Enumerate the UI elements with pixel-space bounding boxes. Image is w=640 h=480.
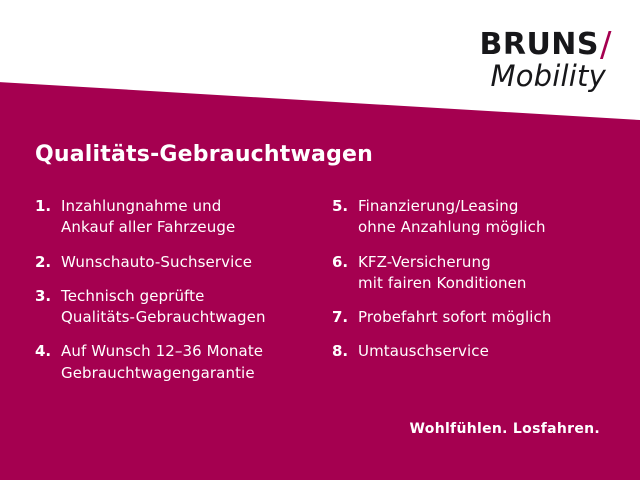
list-item-text: Umtauschservice bbox=[358, 341, 640, 362]
feature-column-right: 5. Finanzierung/Leasing ohne Anzahlung m… bbox=[330, 196, 640, 376]
list-item-line-1: Probefahrt sofort möglich bbox=[358, 308, 552, 326]
list-item: 1. Inzahlungnahme und Ankauf aller Fahrz… bbox=[35, 196, 330, 239]
brand-tagline: Wohlfühlen. Losfahren. bbox=[410, 421, 600, 437]
list-item-text: KFZ-Versicherung mit fairen Konditionen bbox=[358, 252, 640, 295]
list-item-text: Auf Wunsch 12–36 Monate Gebrauchtwagenga… bbox=[61, 341, 330, 384]
list-item: 4. Auf Wunsch 12–36 Monate Gebrauchtwage… bbox=[35, 341, 330, 384]
list-item: 7. Probefahrt sofort möglich bbox=[332, 307, 640, 328]
list-item-line-1: Auf Wunsch 12–36 Monate bbox=[61, 342, 263, 360]
list-item-text: Finanzierung/Leasing ohne Anzahlung mögl… bbox=[358, 196, 640, 239]
logo-wordmark-bruns: BRUNS/ bbox=[479, 26, 612, 60]
list-item-line-1: Inzahlungnahme und bbox=[61, 197, 221, 215]
list-item-line-1: Wunschauto-Suchservice bbox=[61, 253, 252, 271]
list-item: 5. Finanzierung/Leasing ohne Anzahlung m… bbox=[332, 196, 640, 239]
list-item-number: 4. bbox=[35, 341, 61, 362]
list-item-text: Inzahlungnahme und Ankauf aller Fahrzeug… bbox=[61, 196, 330, 239]
list-item-number: 2. bbox=[35, 252, 61, 273]
list-item-text: Wunschauto-Suchservice bbox=[61, 252, 330, 273]
list-item: 8. Umtauschservice bbox=[332, 341, 640, 362]
feature-columns: 1. Inzahlungnahme und Ankauf aller Fahrz… bbox=[0, 196, 640, 397]
list-item: 3. Technisch geprüfte Qualitäts-Gebrauch… bbox=[35, 286, 330, 329]
logo-text-bruns: BRUNS bbox=[479, 27, 599, 62]
list-item-number: 6. bbox=[332, 252, 358, 273]
feature-list-left: 1. Inzahlungnahme und Ankauf aller Fahrz… bbox=[35, 196, 330, 384]
feature-column-left: 1. Inzahlungnahme und Ankauf aller Fahrz… bbox=[0, 196, 330, 397]
list-item-number: 8. bbox=[332, 341, 358, 362]
list-item: 6. KFZ-Versicherung mit fairen Kondition… bbox=[332, 252, 640, 295]
list-item-line-1: Finanzierung/Leasing bbox=[358, 197, 518, 215]
list-item-number: 7. bbox=[332, 307, 358, 328]
slide-root: BRUNS/ Mobility Qualitäts-Gebrauchtwagen… bbox=[0, 0, 640, 480]
list-item-line-1: Umtauschservice bbox=[358, 342, 489, 360]
list-item: 2. Wunschauto-Suchservice bbox=[35, 252, 330, 273]
logo-slash-icon: / bbox=[600, 28, 612, 62]
list-item-line-2: mit fairen Konditionen bbox=[358, 273, 640, 294]
list-item-line-2: Ankauf aller Fahrzeuge bbox=[61, 217, 330, 238]
list-item-number: 1. bbox=[35, 196, 61, 217]
logo-wordmark-mobility: Mobility bbox=[479, 62, 606, 91]
brand-logo[interactable]: BRUNS/ Mobility bbox=[479, 26, 612, 91]
list-item-line-2: Gebrauchtwagengarantie bbox=[61, 363, 330, 384]
list-item-number: 5. bbox=[332, 196, 358, 217]
list-item-line-1: Technisch geprüfte bbox=[61, 287, 204, 305]
list-item-line-1: KFZ-Versicherung bbox=[358, 253, 491, 271]
list-item-text: Technisch geprüfte Qualitäts-Gebrauchtwa… bbox=[61, 286, 330, 329]
page-title: Qualitäts-Gebrauchtwagen bbox=[35, 142, 373, 167]
list-item-line-2: Qualitäts-Gebrauchtwagen bbox=[61, 307, 330, 328]
feature-list-right: 5. Finanzierung/Leasing ohne Anzahlung m… bbox=[332, 196, 640, 363]
list-item-text: Probefahrt sofort möglich bbox=[358, 307, 640, 328]
list-item-number: 3. bbox=[35, 286, 61, 307]
list-item-line-2: ohne Anzahlung möglich bbox=[358, 217, 640, 238]
